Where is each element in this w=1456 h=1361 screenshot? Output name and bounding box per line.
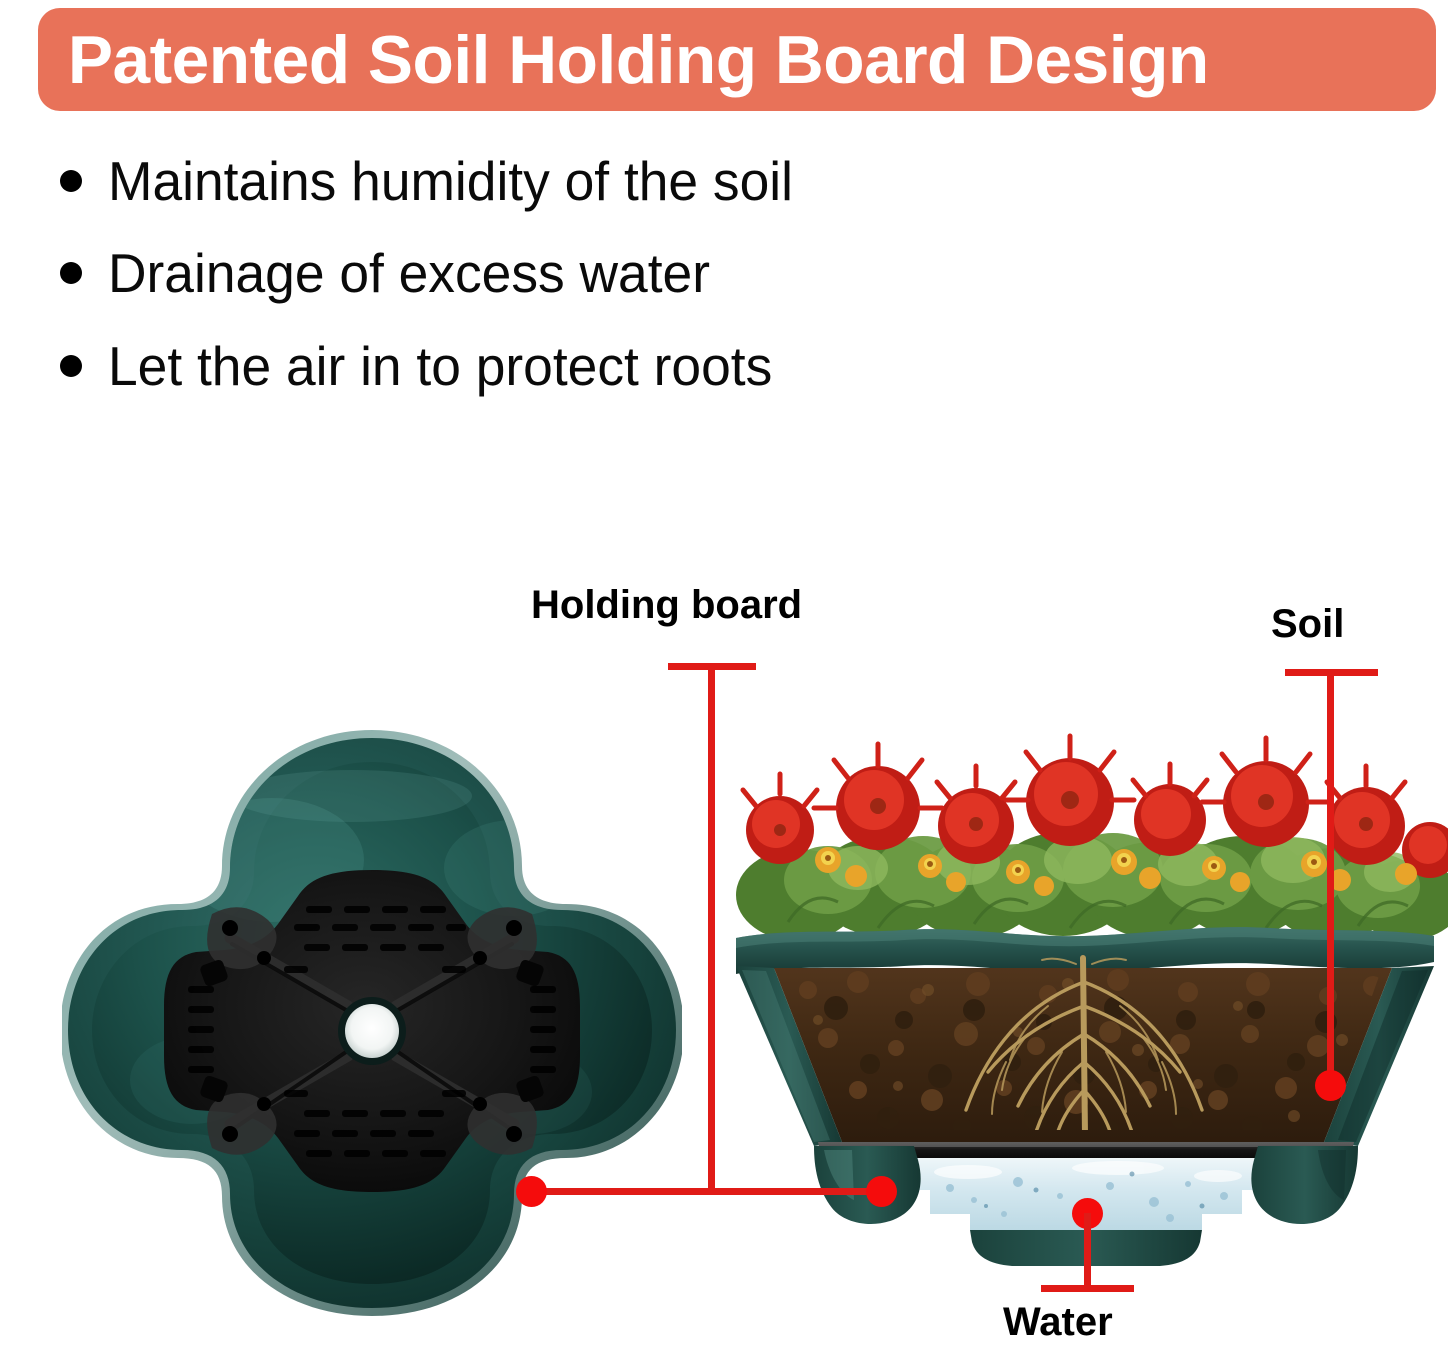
holding-board-marker-right <box>866 1176 897 1207</box>
soil-marker <box>1315 1070 1346 1101</box>
soil-layer <box>774 958 1392 1142</box>
header-banner: Patented Soil Holding Board Design <box>38 8 1436 111</box>
holding-board-leader-branch <box>530 1188 888 1195</box>
feature-list: Maintains humidity of the soil Drainage … <box>60 152 1160 429</box>
center-drainage-hole <box>338 997 406 1065</box>
callout-label-holding-board: Holding board <box>531 585 802 625</box>
callout-label-soil: Soil <box>1271 604 1344 644</box>
feature-text: Maintains humidity of the soil <box>108 152 793 210</box>
water-leader-tbar <box>1041 1285 1134 1292</box>
list-item: Let the air in to protect roots <box>60 337 1160 395</box>
infographic-page: Patented Soil Holding Board Design Maint… <box>0 0 1456 1361</box>
clover-planter-top-view-image <box>62 700 682 1320</box>
list-item: Drainage of excess water <box>60 244 1160 302</box>
water-leader-stem <box>1084 1213 1091 1290</box>
callout-label-water: Water <box>1003 1302 1113 1342</box>
soil-leader-stem <box>1327 669 1334 1083</box>
page-title: Patented Soil Holding Board Design <box>38 26 1209 94</box>
list-item: Maintains humidity of the soil <box>60 152 1160 210</box>
bullet-dot-icon <box>60 170 82 192</box>
feature-text: Drainage of excess water <box>108 244 710 302</box>
holding-board-leader-stem <box>708 663 715 1192</box>
holding-board-marker-left <box>516 1176 547 1207</box>
bullet-dot-icon <box>60 262 82 284</box>
bullet-dot-icon <box>60 355 82 377</box>
feature-text: Let the air in to protect roots <box>108 337 772 395</box>
